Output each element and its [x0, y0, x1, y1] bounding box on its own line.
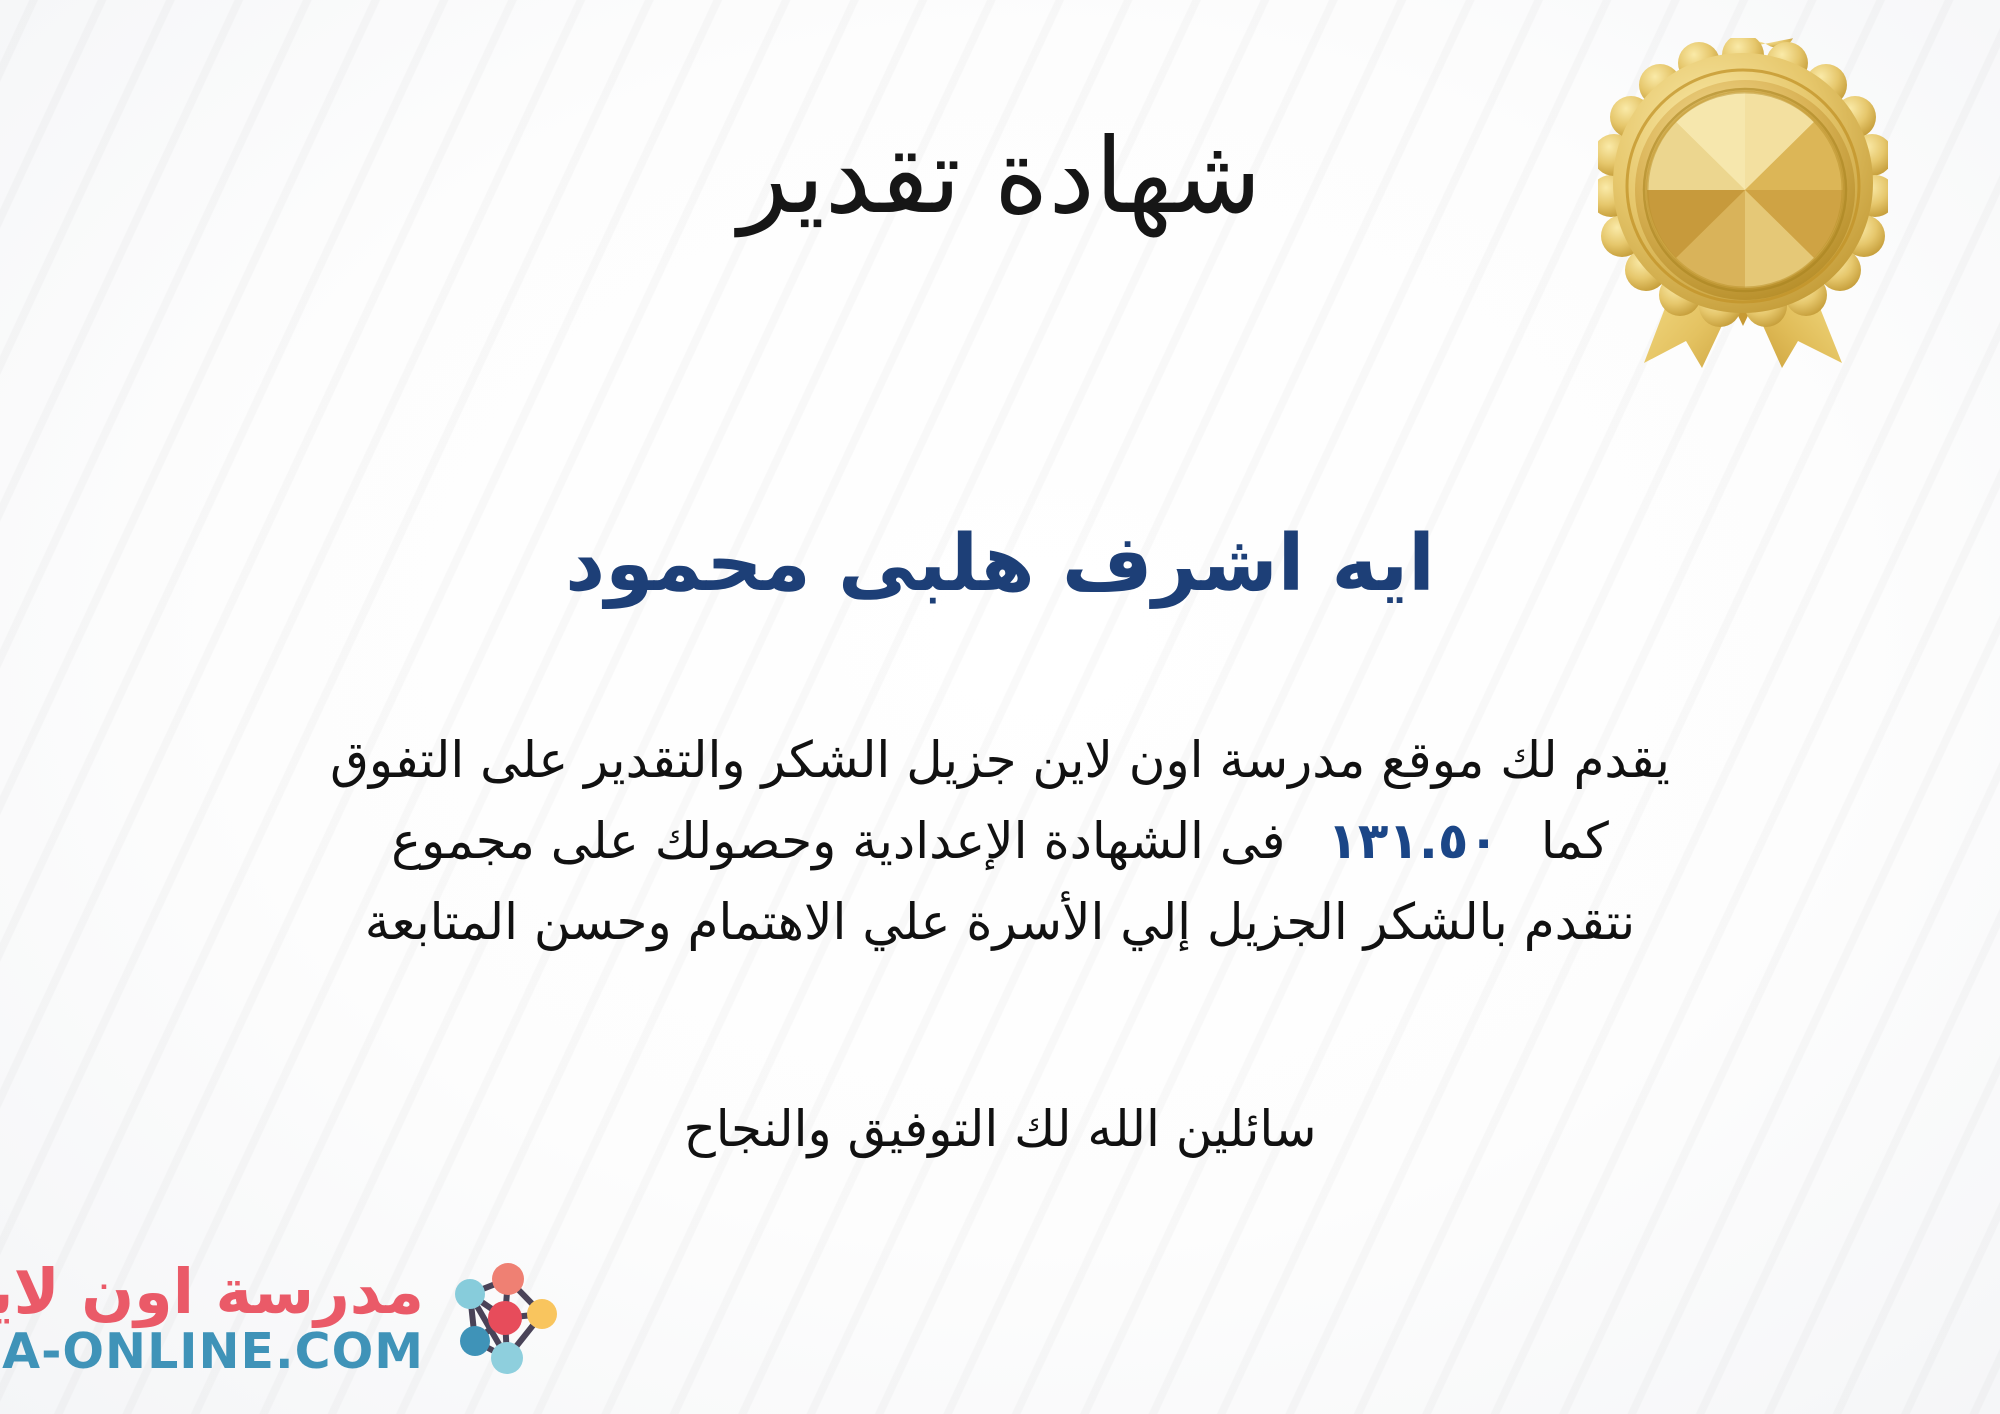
brand-logo[interactable]: مدرسة اون لاين MADRSA-ONLINE.COM [26, 1248, 566, 1388]
body-line-2-suffix: كما [1541, 812, 1609, 870]
network-graph-icon [434, 1252, 566, 1384]
certificate-title: شهادة تقدير [0, 118, 2000, 234]
body-line-1: يقدم لك موقع مدرسة اون لاين جزيل الشكر و… [60, 720, 1940, 801]
total-score-value: ١٣١.٥٠ [1301, 812, 1525, 870]
body-line-2-prefix: فى الشهادة الإعدادية وحصولك على مجموع [391, 812, 1285, 870]
brand-name-arabic: مدرسة اون لاين [0, 1261, 424, 1323]
closing-line: سائلين الله لك التوفيق والنجاح [0, 1100, 2000, 1158]
recipient-name: ايه اشرف هلبى محمود [0, 520, 2000, 610]
body-line-3: نتقدم بالشكر الجزيل إلي الأسرة علي الاهت… [60, 882, 1940, 963]
certificate-canvas: شهادة تقدير ايه اشرف هلبى محمود يقدم لك … [0, 0, 2000, 1414]
body-line-2: كما ١٣١.٥٠ فى الشهادة الإعدادية وحصولك ع… [60, 801, 1940, 882]
certificate-body: يقدم لك موقع مدرسة اون لاين جزيل الشكر و… [60, 720, 1940, 963]
brand-logo-text: مدرسة اون لاين MADRSA-ONLINE.COM [0, 1261, 424, 1376]
brand-website: MADRSA-ONLINE.COM [0, 1327, 424, 1376]
